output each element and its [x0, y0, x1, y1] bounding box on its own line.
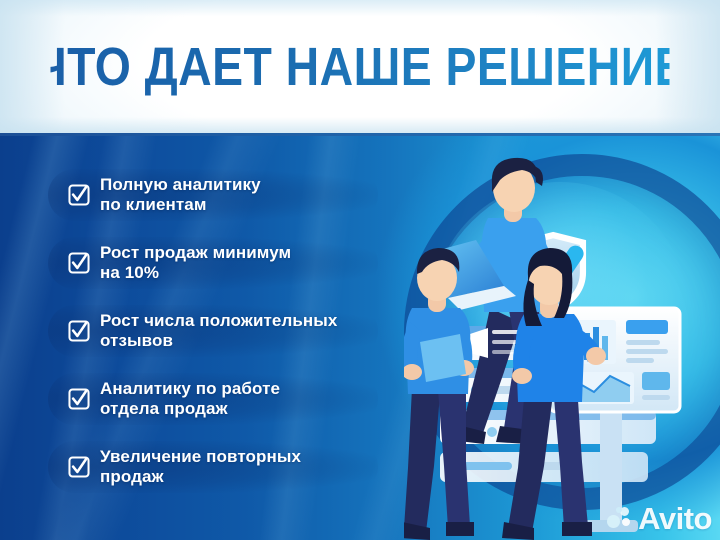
list-item-label: Аналитику по работе отдела продаж: [100, 379, 280, 420]
list-item: Увеличение повторных продаж: [54, 440, 454, 494]
avito-watermark-label: Avito: [638, 503, 712, 534]
business-analytics-team-illustration: [404, 136, 720, 540]
list-item: Аналитику по работе отдела продаж: [54, 372, 454, 426]
list-item: Рост числа положительных отзывов: [54, 304, 454, 358]
list-item: Рост продаж минимум на 10%: [54, 236, 454, 290]
list-item-label: Увеличение повторных продаж: [100, 447, 301, 488]
benefits-checklist: Полную аналитику по клиентам Рост продаж…: [54, 168, 454, 508]
poster-image: ЧТО ДАЕТ НАШЕ РЕШЕНИЕ Полную аналитику п…: [0, 0, 720, 540]
list-item-label: Рост числа положительных отзывов: [100, 311, 337, 352]
page-title: ЧТО ДАЕТ НАШЕ РЕШЕНИЕ: [50, 0, 669, 133]
poster-header: ЧТО ДАЕТ НАШЕ РЕШЕНИЕ: [0, 0, 720, 136]
list-item: Полную аналитику по клиентам: [54, 168, 454, 222]
checkbox-checked-icon: [68, 320, 90, 342]
list-item-label: Рост продаж минимум на 10%: [100, 243, 291, 284]
avito-watermark: Avito: [607, 503, 712, 534]
checkbox-checked-icon: [68, 388, 90, 410]
poster-body: Полную аналитику по клиентам Рост продаж…: [0, 136, 720, 540]
checkbox-checked-icon: [68, 456, 90, 478]
checkbox-checked-icon: [68, 252, 90, 274]
list-item-label: Полную аналитику по клиентам: [100, 175, 261, 216]
person-at-dashboard-kiosk: [502, 248, 680, 540]
avito-logo-icon: [607, 506, 633, 532]
checkbox-checked-icon: [68, 184, 90, 206]
